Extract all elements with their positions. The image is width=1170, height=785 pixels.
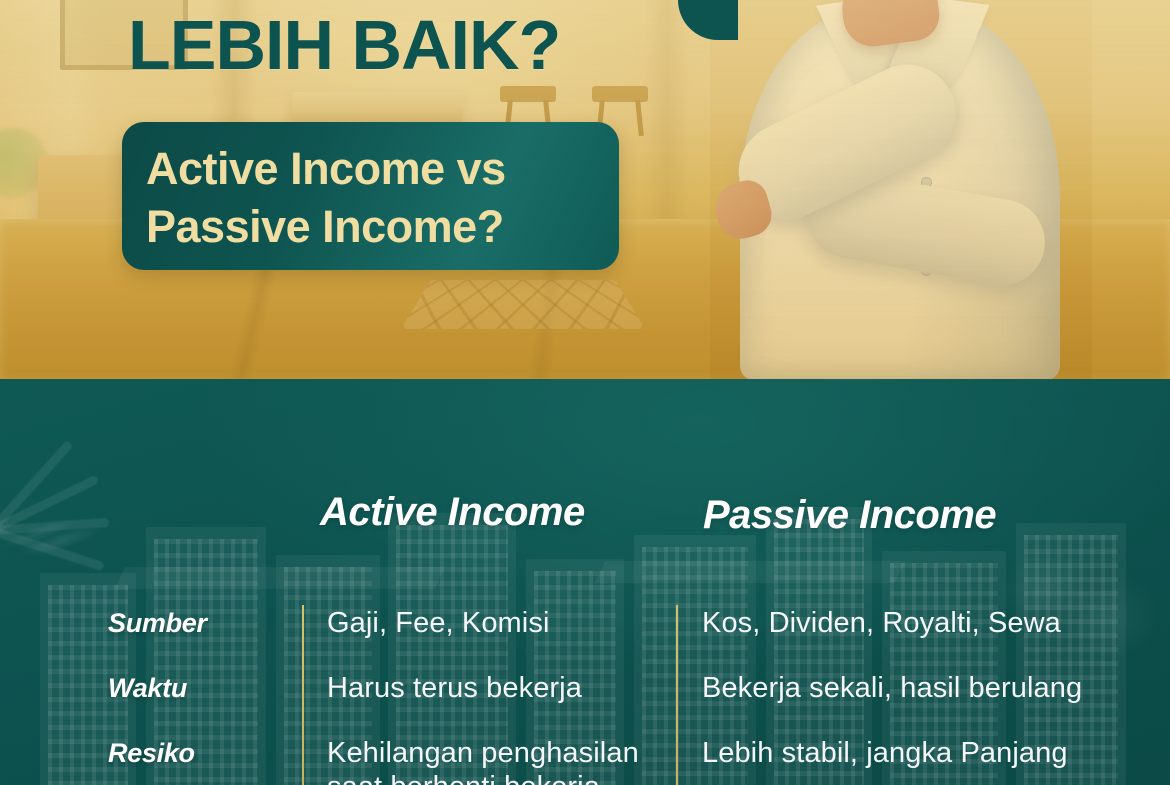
cell-sumber-passive: Kos, Dividen, Royalti, Sewa — [702, 607, 1061, 641]
row-label-resiko: Resiko — [108, 738, 195, 769]
column-header-passive: Passive Income — [703, 495, 996, 535]
page-title: LEBIH BAIK? — [128, 10, 560, 80]
row-label-sumber: Sumber — [108, 608, 207, 639]
cell-waktu-active: Harus terus bekerja — [327, 672, 582, 706]
comparison-section: Active Income Passive Income Sumber Gaji… — [0, 379, 1170, 785]
comparison-table: Active Income Passive Income Sumber Gaji… — [0, 379, 1170, 785]
header-section: LEBIH BAIK? Active Income vs Passive Inc… — [0, 0, 1170, 379]
cell-resiko-active: Kehilangan penghasilan saat berhenti bek… — [327, 737, 639, 785]
cell-resiko-passive: Lebih stabil, jangka Panjang — [702, 737, 1068, 771]
column-header-active: Active Income — [320, 492, 585, 532]
cell-waktu-passive: Bekerja sekali, hasil berulang — [702, 672, 1082, 706]
subtitle-line-1: Active Income vs — [146, 146, 506, 191]
subtitle-line-2: Passive Income? — [146, 204, 504, 249]
cell-sumber-active: Gaji, Fee, Komisi — [327, 607, 550, 641]
subtitle-badge: Active Income vs Passive Income? — [122, 122, 619, 270]
column-divider-1 — [302, 605, 304, 785]
row-label-waktu: Waktu — [108, 673, 187, 704]
infographic-poster: LEBIH BAIK? Active Income vs Passive Inc… — [0, 0, 1170, 785]
column-divider-2 — [676, 605, 678, 785]
